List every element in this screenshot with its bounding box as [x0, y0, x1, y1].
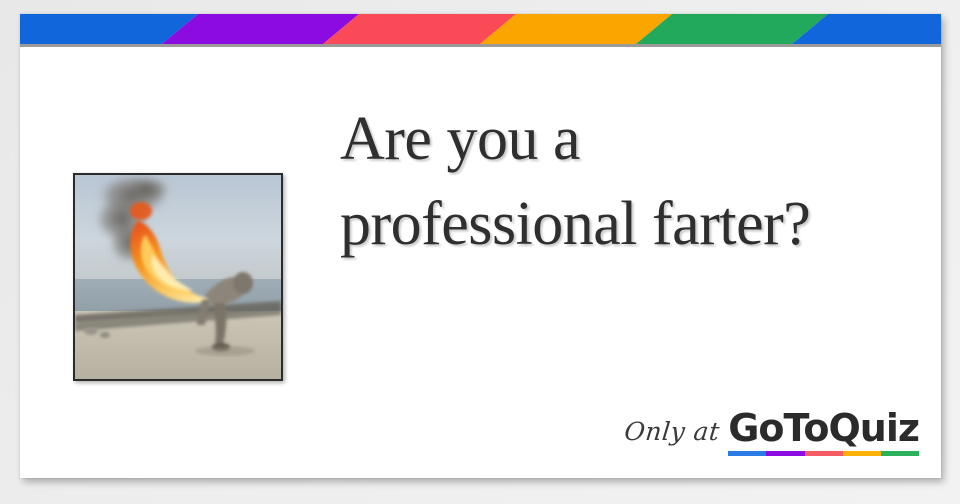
underline-segment-red: [805, 451, 843, 456]
page-title: Are you a professional farter?: [340, 97, 860, 267]
underline-segment-green: [881, 451, 919, 456]
underline-segment-orange: [843, 451, 881, 456]
underline-segment-purple: [766, 451, 804, 456]
thumb-ground-shadow: [195, 346, 255, 356]
gotoquiz-wordmark: GoToQuiz: [728, 408, 919, 448]
only-at-label: Only at: [622, 417, 721, 456]
gotoquiz-underline-bar: [728, 451, 919, 456]
screen-background: Are you a professional farter? Only at G…: [0, 0, 960, 504]
quiz-thumbnail[interactable]: [73, 173, 283, 381]
gotoquiz-logo[interactable]: GoToQuiz: [728, 408, 919, 456]
top-color-ribbon: [20, 14, 941, 44]
quiz-card: Are you a professional farter? Only at G…: [20, 14, 941, 478]
underline-segment-blue: [728, 451, 766, 456]
card-body: Are you a professional farter? Only at G…: [20, 47, 941, 478]
brand-footer[interactable]: Only at GoToQuiz: [624, 408, 919, 456]
